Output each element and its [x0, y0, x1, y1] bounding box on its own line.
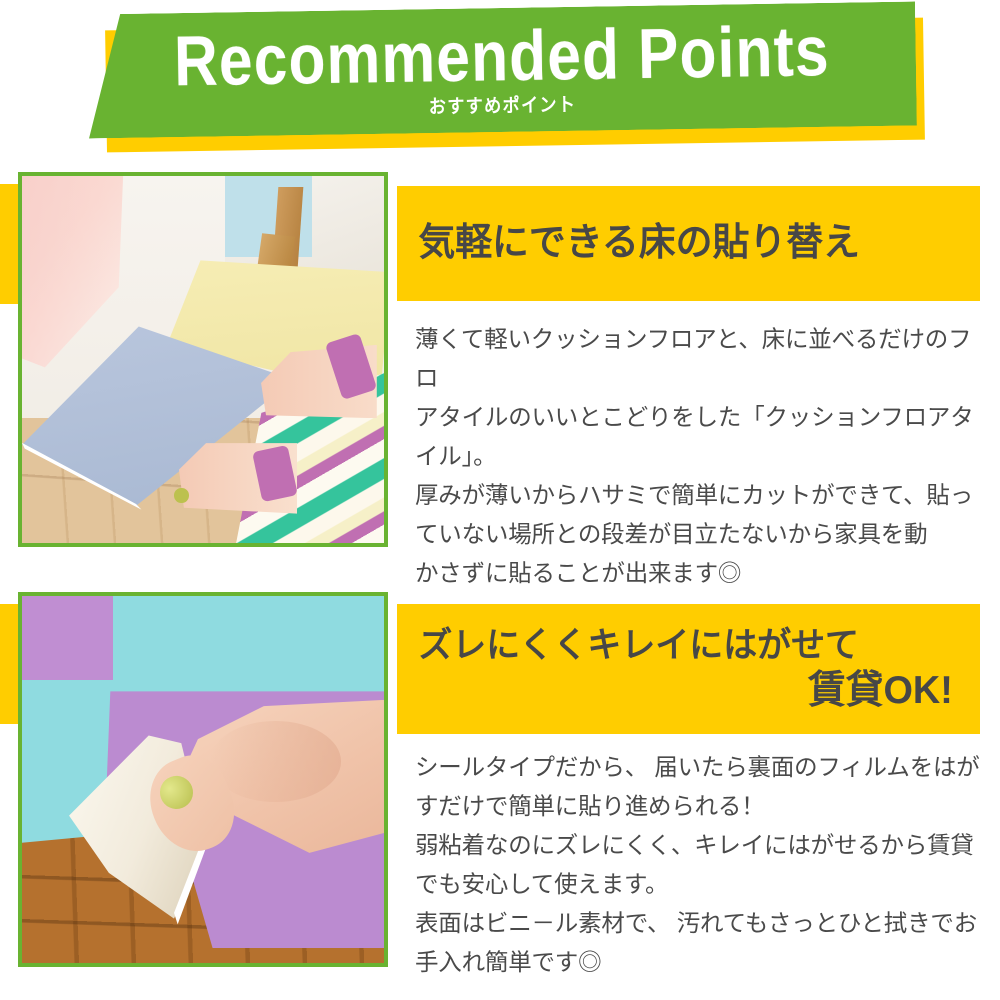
body-line: ていない場所との段差が目立たないから家具を動: [415, 515, 987, 554]
point-section-1: 気軽にできる床の貼り替え 薄くて軽いクッションフロアと、床に並べるだけのフロ ア…: [0, 160, 1000, 570]
fingernail: [174, 488, 188, 503]
body-line: すだけで簡単に貼り進められる！: [415, 787, 987, 826]
body-line: 弱粘着なのにズレにくく、キレイにはがせるから賃貸: [415, 826, 987, 865]
heading-band-1: 気軽にできる床の貼り替え: [397, 186, 980, 301]
body-text-1: 薄くて軽いクッションフロアと、床に並べるだけのフロ アタイルのいいとこどりをした…: [415, 320, 987, 593]
heading-line-2: 賃貸OK!: [414, 670, 980, 711]
body-line: アタイルのいいとこどりをした「クッションフロアタイル」。: [415, 398, 987, 476]
photo-frame-2: [18, 592, 388, 967]
promo-page: Recommended Points おすすめポイント: [0, 0, 1000, 1000]
body-line: 表面はビニ－ル素材で、 汚れてもさっとひと拭きでお: [415, 904, 987, 943]
banner-subtitle: おすすめポイント: [429, 96, 577, 117]
banner-title: Recommended Points: [173, 16, 830, 97]
header-banner: Recommended Points おすすめポイント: [88, 8, 930, 146]
body-line: 薄くて軽いクッションフロアと、床に並べるだけのフロ: [415, 320, 987, 398]
heading-band-2: ズレにくくキレイにはがせて 賃貸OK!: [397, 604, 980, 734]
purple-tile-topleft: [22, 596, 113, 680]
body-line: 厚みが薄いからハサミで簡単にカットができて、貼っ: [415, 476, 987, 515]
point-section-2: ズレにくくキレイにはがせて 賃貸OK! シールタイプだから、 届いたら裏面のフィ…: [0, 580, 1000, 990]
banner-green-block: Recommended Points おすすめポイント: [87, 2, 917, 139]
heading-line-1: ズレにくくキレイにはがせて: [397, 627, 963, 664]
body-line: シールタイプだから、 届いたら裏面のフィルムをはが: [415, 748, 987, 787]
turquoise-tile-top: [113, 596, 385, 695]
photo-frame-1: [18, 172, 388, 547]
heading-line-1: 気軽にできる床の貼り替え: [397, 223, 963, 263]
body-line: 手入れ簡単です◎: [415, 943, 987, 982]
photo-floor-tile-laying: [22, 176, 384, 543]
photo-peeling-tile: [22, 596, 384, 963]
body-text-2: シールタイプだから、 届いたら裏面のフィルムをはが すだけで簡単に貼り進められる…: [415, 748, 987, 982]
body-line: でも安心して使えます。: [415, 865, 987, 904]
